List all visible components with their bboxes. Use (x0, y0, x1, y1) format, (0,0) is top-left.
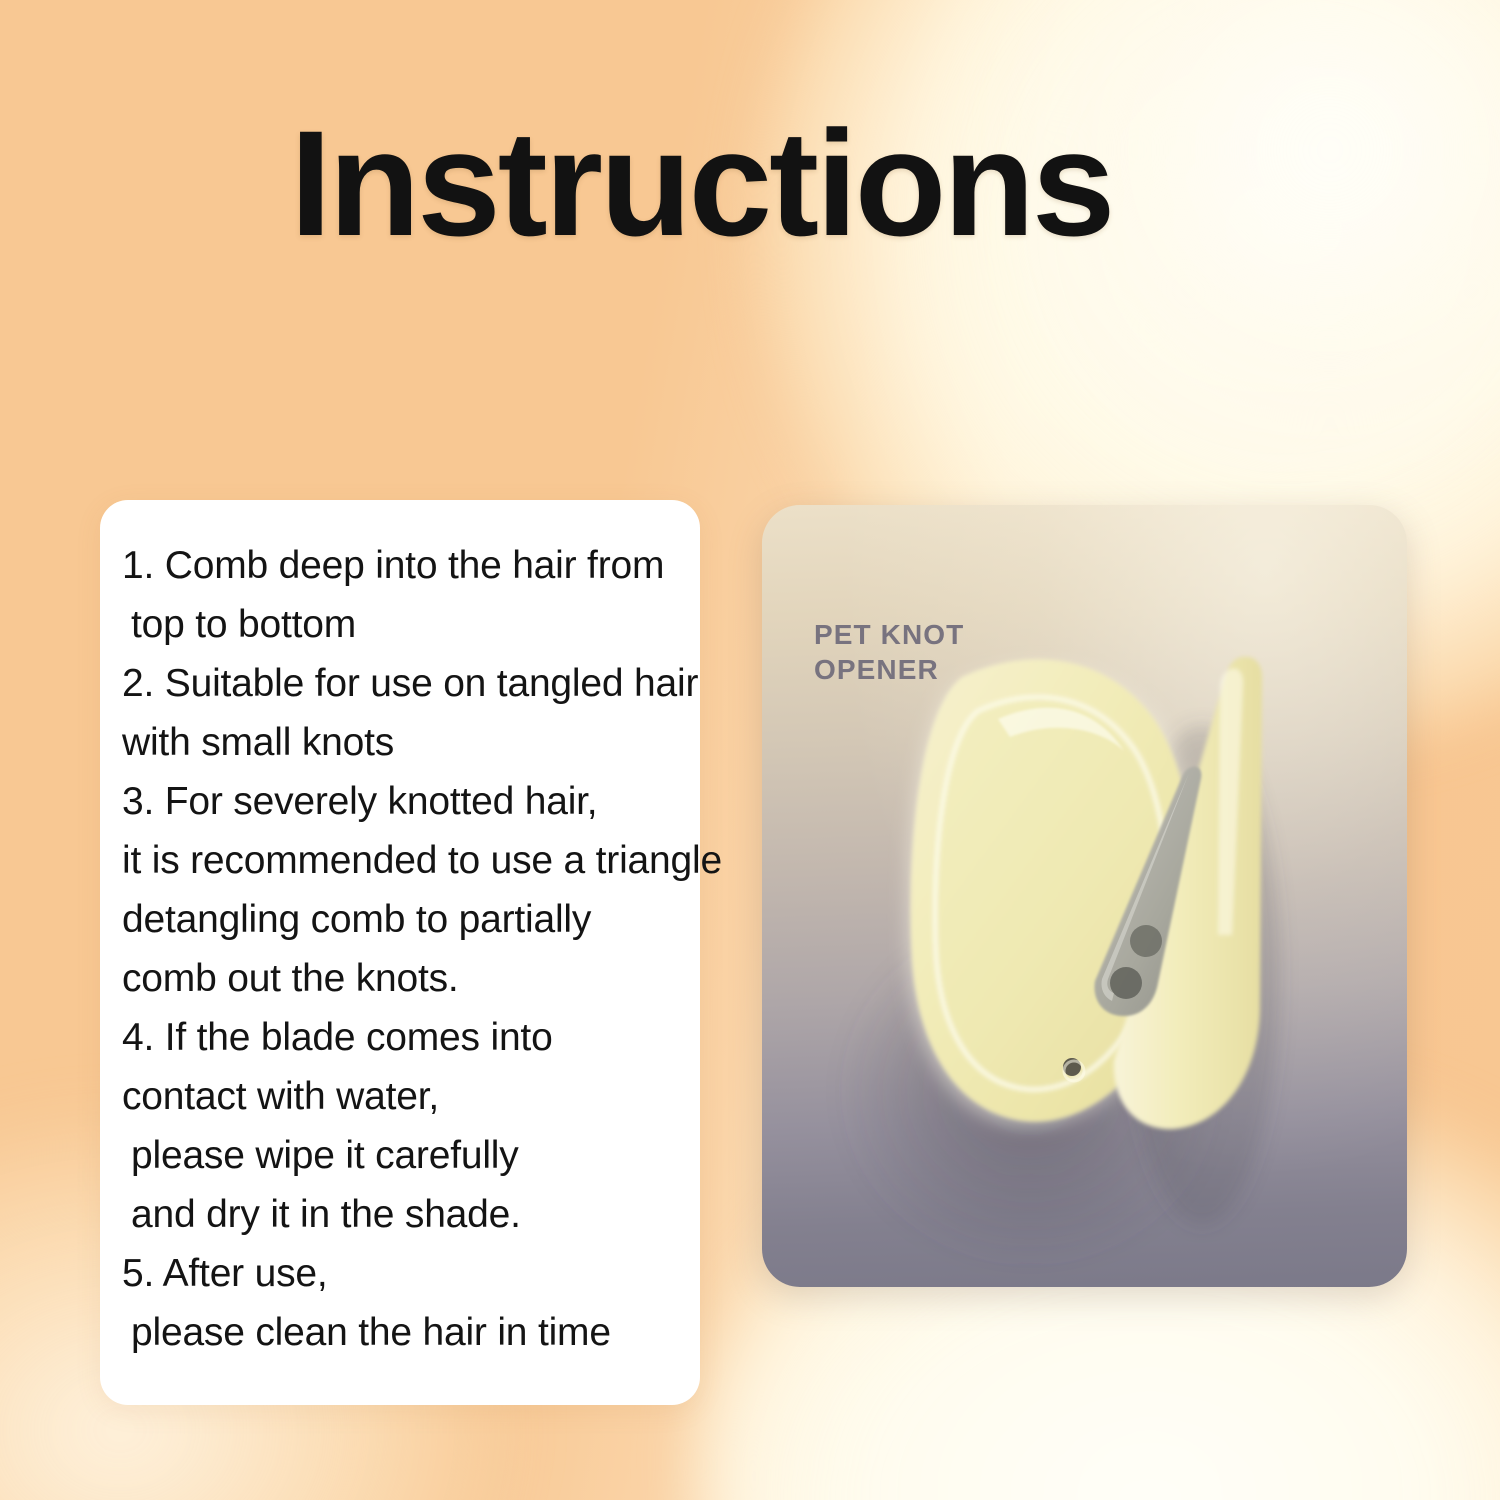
instructions-list: 1. Comb deep into the hair from top to b… (122, 536, 690, 1362)
product-image-card: PET KNOT OPENER (762, 505, 1407, 1287)
instruction-line: please wipe it carefully (122, 1126, 690, 1185)
instruction-graphic: Instructions 1. Comb deep into the hair … (0, 0, 1500, 1500)
instruction-line: 4. If the blade comes into (122, 1008, 690, 1067)
instruction-line: it is recommended to use a triangle (122, 831, 690, 890)
instruction-line: please clean the hair in time (122, 1303, 690, 1362)
instruction-line: 5. After use, (122, 1244, 690, 1303)
pet-knot-opener-illustration (762, 505, 1407, 1287)
instruction-line: 2. Suitable for use on tangled hair (122, 654, 690, 713)
blade-hole-upper (1130, 925, 1162, 957)
instruction-line: comb out the knots. (122, 949, 690, 1008)
instruction-line: 3. For severely knotted hair, (122, 772, 690, 831)
blade-hole-lower (1110, 967, 1142, 999)
instruction-line: and dry it in the shade. (122, 1185, 690, 1244)
instructions-card: 1. Comb deep into the hair from top to b… (100, 500, 700, 1405)
instruction-line: with small knots (122, 713, 690, 772)
instruction-line: contact with water, (122, 1067, 690, 1126)
instruction-line: 1. Comb deep into the hair from (122, 536, 690, 595)
page-title: Instructions (290, 108, 1112, 258)
instruction-line: detangling comb to partially (122, 890, 690, 949)
instruction-line: top to bottom (122, 595, 690, 654)
product-photo (762, 505, 1407, 1287)
